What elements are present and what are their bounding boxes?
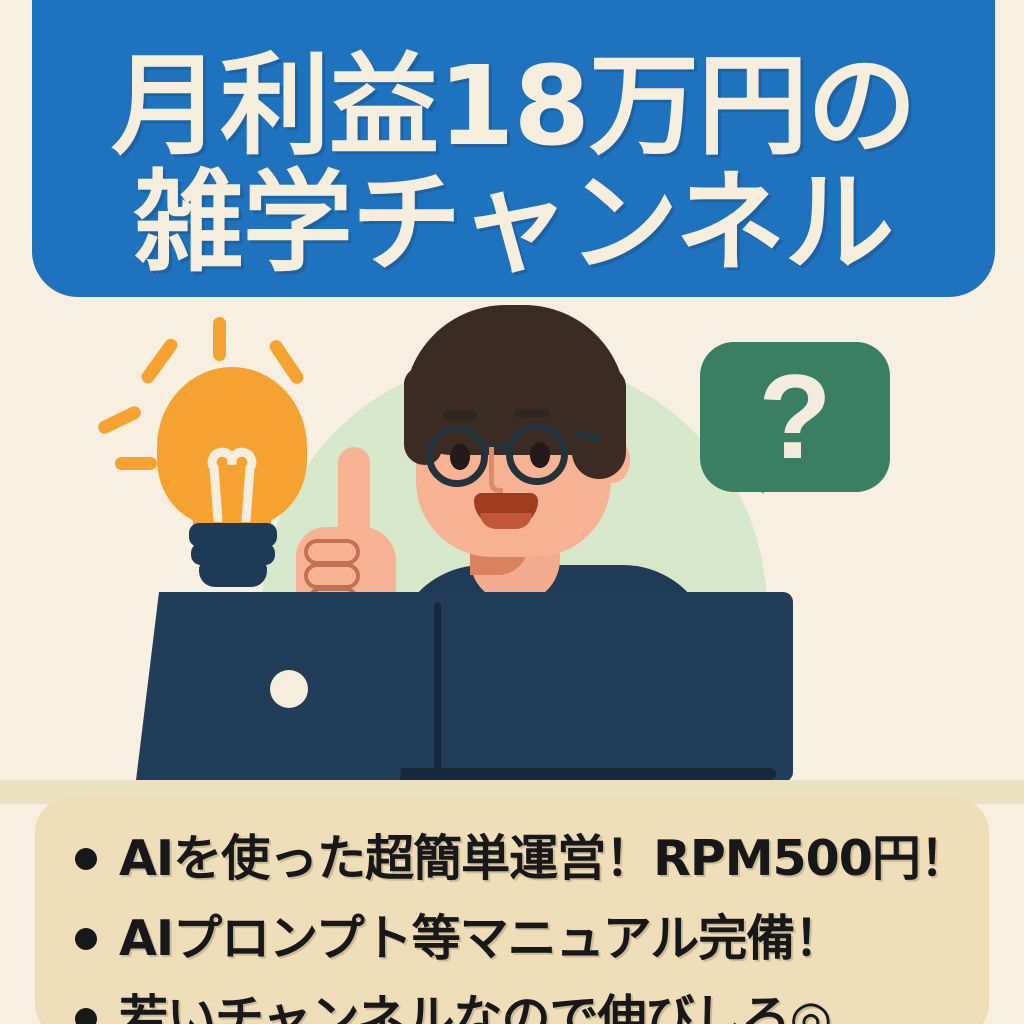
- headline-line-2: 雑学チャンネル: [134, 165, 894, 283]
- list-item: 若いチャンネルなので伸びしろ◎: [75, 992, 949, 1024]
- person-eye-left: [450, 444, 470, 470]
- person-eye-right: [530, 442, 550, 468]
- person-hair-fringe: [430, 337, 610, 403]
- header-banner: 月利益18万円の 雑学チャンネル: [32, 0, 995, 297]
- bullet-text: AIを使った超簡単運営！RPM500円！: [119, 832, 968, 886]
- bullet-dot-icon: [75, 928, 97, 950]
- person-eyebrow-right: [515, 409, 549, 418]
- laptop: [118, 592, 708, 787]
- person-nose: [489, 447, 503, 493]
- person-illustration: [0, 297, 1024, 802]
- bullet-dot-icon: [75, 1008, 97, 1024]
- list-item: AIを使った超簡単運営！RPM500円！: [75, 832, 949, 886]
- bullet-text: 若いチャンネルなので伸びしろ◎: [119, 992, 831, 1024]
- person-eyebrow-left: [443, 411, 477, 420]
- knuckle-2: [304, 563, 360, 589]
- laptop-lid: [130, 592, 420, 782]
- laptop-logo-icon: [270, 670, 308, 708]
- poster-root: 月利益18万円の 雑学チャンネル ?: [0, 0, 1024, 1024]
- list-item: AIプロンプト等マニュアル完備！: [75, 912, 949, 966]
- bullets-panel: AIを使った超簡単運営！RPM500円！ AIプロンプト等マニュアル完備！ 若い…: [35, 798, 989, 1024]
- bullet-list: AIを使った超簡単運営！RPM500円！ AIプロンプト等マニュアル完備！ 若い…: [75, 832, 949, 1024]
- knuckle-1: [304, 539, 360, 565]
- laptop-screen-edge: [434, 602, 441, 782]
- bullet-dot-icon: [75, 848, 97, 870]
- illustration: ?: [0, 297, 1024, 802]
- person-tongue: [480, 513, 532, 529]
- bullet-text: AIプロンプト等マニュアル完備！: [119, 912, 842, 966]
- headline-line-1: 月利益18万円の: [111, 48, 916, 166]
- laptop-base-edge: [386, 768, 776, 780]
